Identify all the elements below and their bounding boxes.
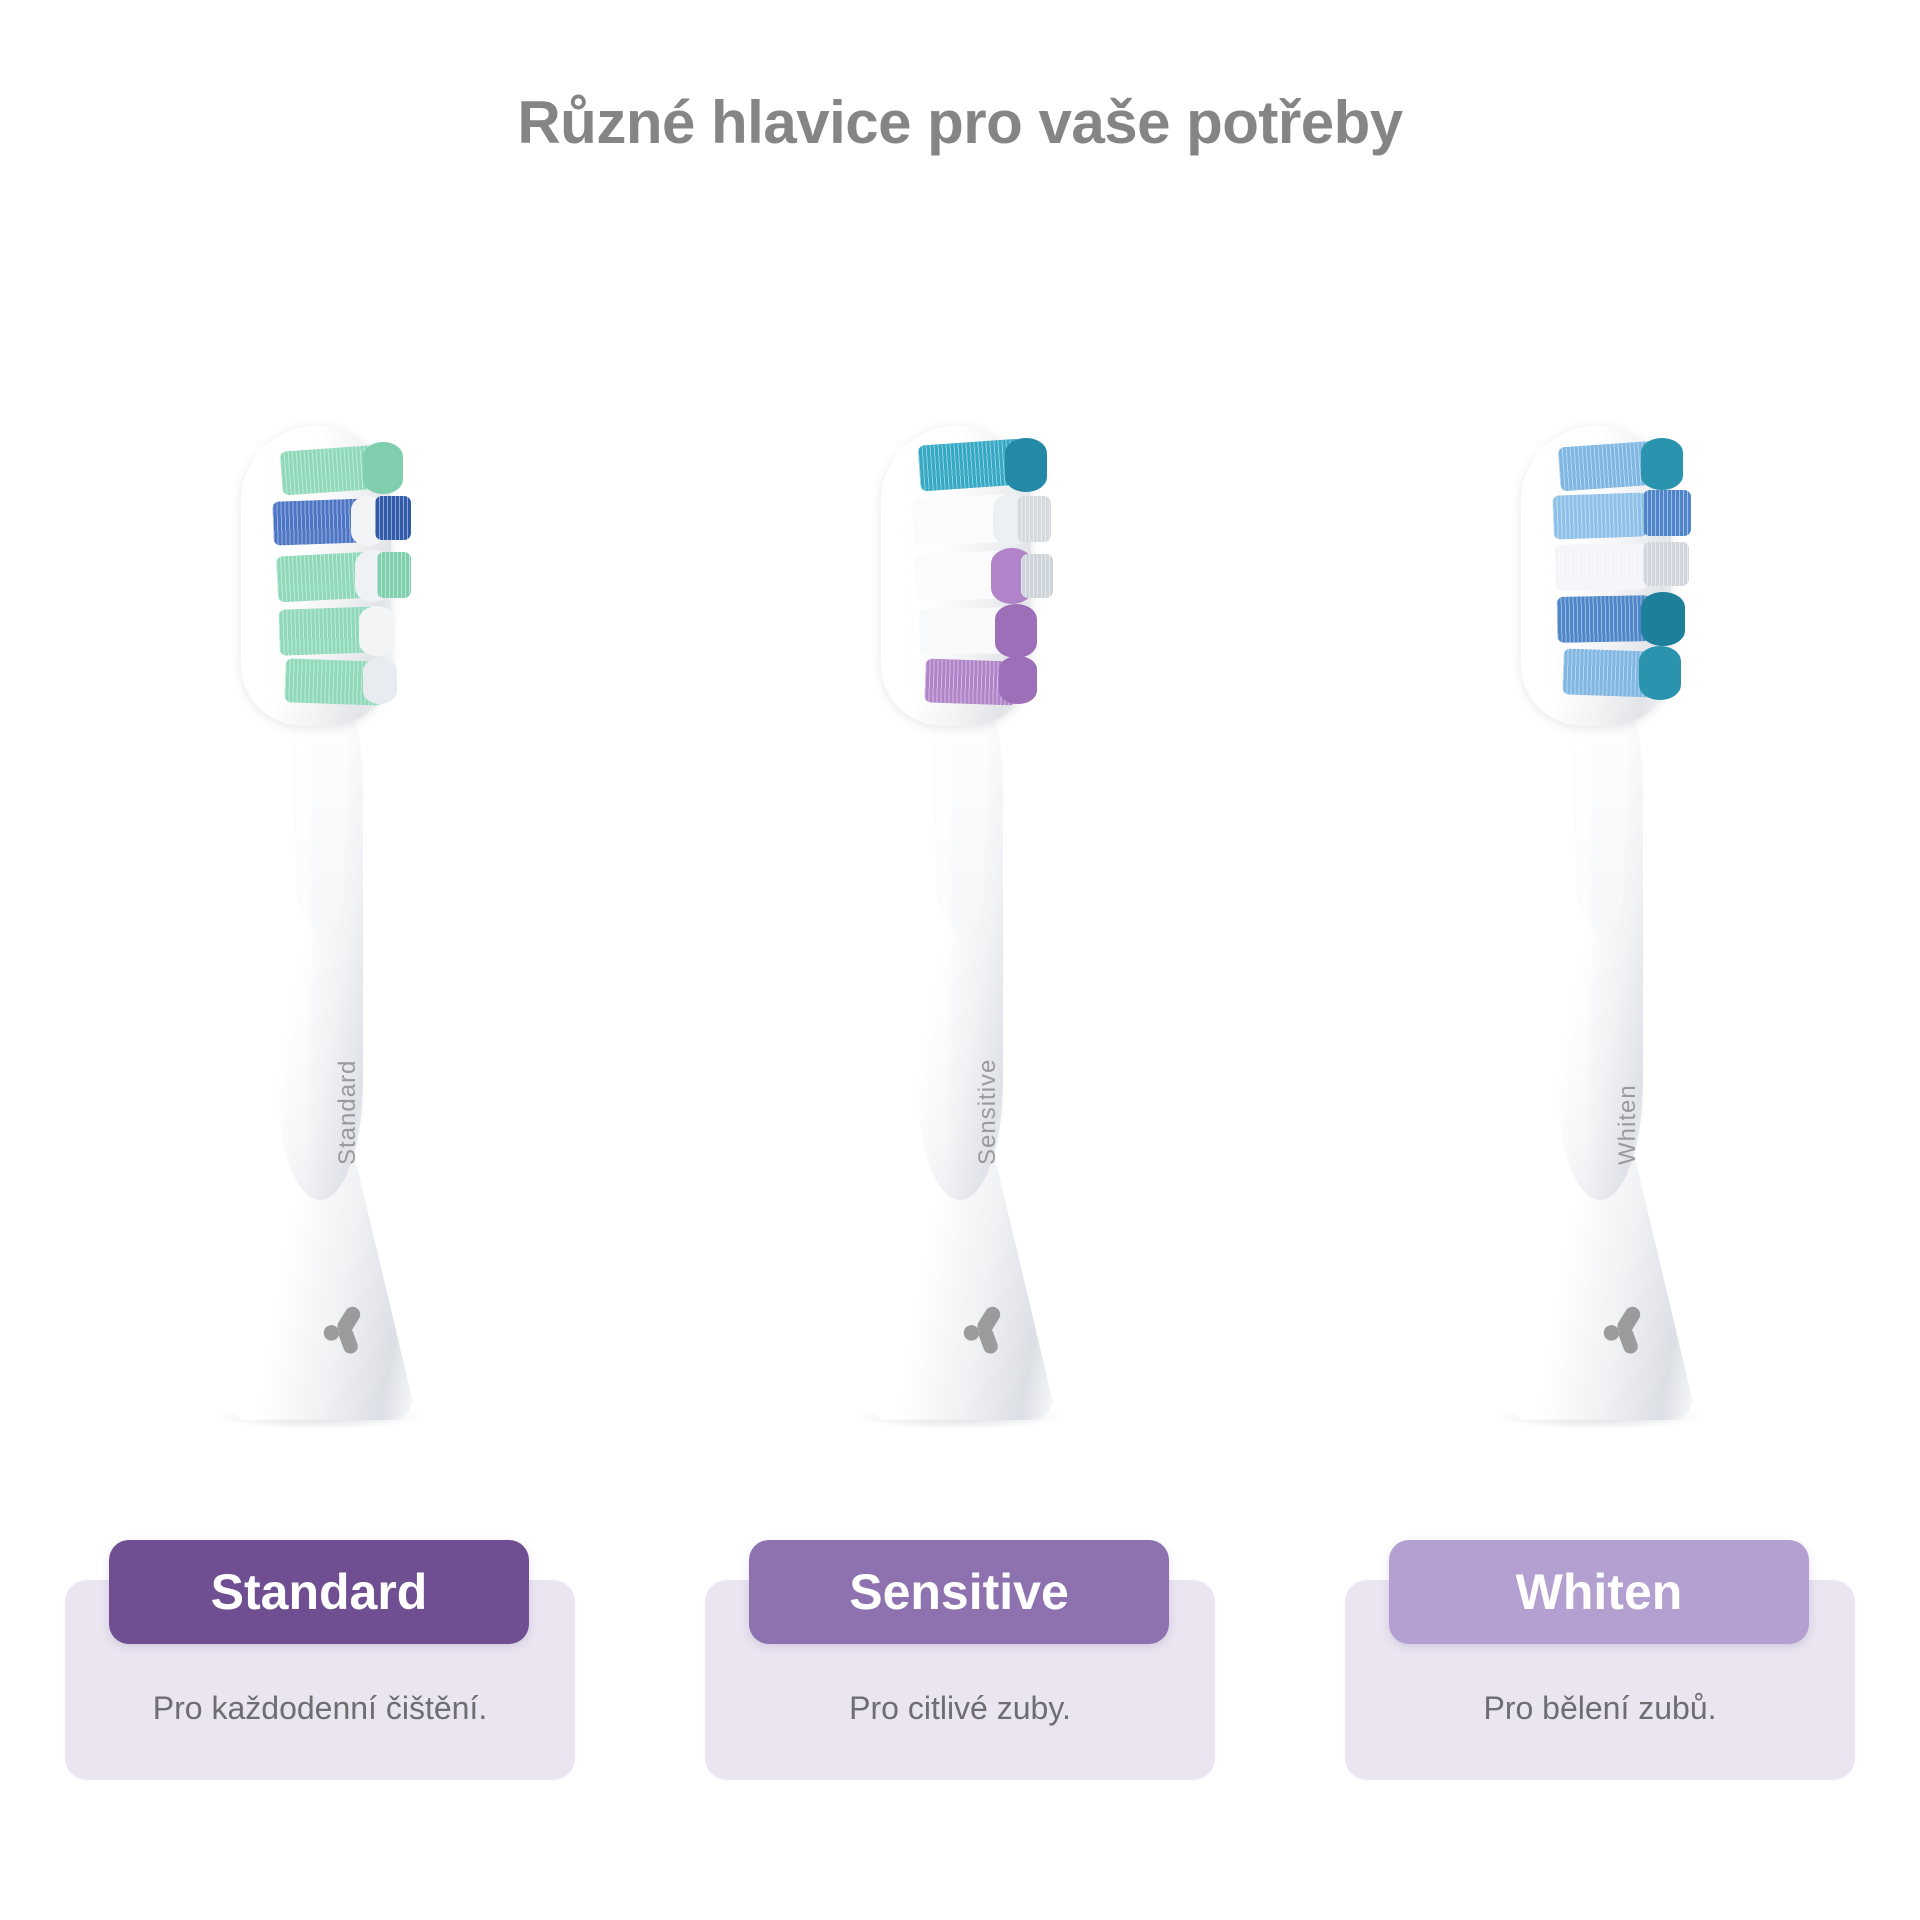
bristle-tuft-purple (995, 604, 1037, 658)
toothbrush-head-standard: Standard (215, 420, 425, 1440)
bristle-tuft-white (1555, 543, 1648, 591)
bristle-tuft-green (363, 442, 403, 494)
bristle-tuft-teal (1641, 438, 1683, 490)
product-row: Standard (0, 420, 1920, 1480)
product-sensitive: Sensitive (750, 420, 1170, 1450)
bristle-cluster-standard (267, 438, 417, 714)
badge-standard[interactable]: Standard (109, 1540, 529, 1644)
bristle-tuft-blue (1643, 490, 1691, 536)
badge-sensitive[interactable]: Sensitive (749, 1540, 1169, 1644)
card-description: Pro citlivé zuby. (705, 1690, 1215, 1727)
badge-label: Sensitive (849, 1563, 1069, 1621)
bristle-tuft-teal (1639, 646, 1681, 700)
badge-label: Whiten (1516, 1563, 1683, 1621)
caption-card-sensitive: Sensitive Pro citlivé zuby. (705, 1540, 1215, 1800)
handle-label-sensitive: Sensitive (974, 1059, 1002, 1165)
product-standard: Standard (110, 420, 530, 1450)
bristle-tuft-gray (1017, 496, 1051, 542)
brand-logo-icon (1596, 1300, 1654, 1358)
bristle-tuft-gray (1021, 554, 1053, 598)
bristle-tuft-darkblue (375, 496, 411, 540)
bristle-tuft-blue (1557, 595, 1652, 643)
bristle-tuft-white (359, 606, 395, 656)
toothbrush-head-sensitive: Sensitive (855, 420, 1065, 1440)
bristle-tuft-purple-dark (999, 656, 1037, 704)
bristle-tuft-white (363, 658, 397, 704)
bristle-cluster-sensitive (907, 438, 1057, 714)
caption-card-row: Standard Pro každodenní čištění. Sensiti… (0, 1540, 1920, 1840)
badge-whiten[interactable]: Whiten (1389, 1540, 1809, 1644)
brand-logo-icon (956, 1300, 1014, 1358)
bristle-tuft-gray (1643, 542, 1689, 586)
caption-card-whiten: Whiten Pro bělení zubů. (1345, 1540, 1855, 1800)
bristle-tuft-green (377, 552, 411, 598)
card-description: Pro každodenní čištění. (65, 1690, 575, 1727)
handle-label-whiten: Whiten (1614, 1084, 1642, 1165)
bristle-tuft-teal-dark (1641, 592, 1685, 646)
handle-label-standard: Standard (334, 1060, 362, 1165)
badge-label: Standard (211, 1563, 428, 1621)
page-title: Různé hlavice pro vaše potřeby (0, 88, 1920, 157)
bristle-tuft-lightblue (1552, 492, 1647, 539)
brand-logo-icon (316, 1300, 374, 1358)
caption-card-standard: Standard Pro každodenní čištění. (65, 1540, 575, 1800)
infographic-page: Různé hlavice pro vaše potřeby (0, 0, 1920, 1920)
product-whiten: Whiten (1390, 420, 1810, 1450)
toothbrush-head-whiten: Whiten (1495, 420, 1705, 1440)
bristle-cluster-whiten (1547, 438, 1697, 714)
bristle-tuft-teal-dark (1005, 438, 1047, 492)
card-description: Pro bělení zubů. (1345, 1690, 1855, 1727)
